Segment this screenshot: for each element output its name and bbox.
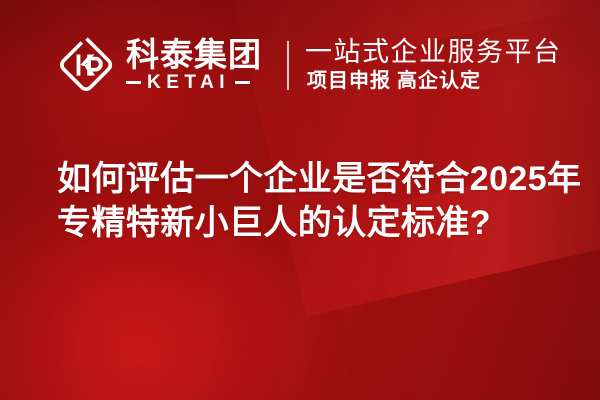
headline-line-2: 专精特新小巨人的认定标准? [57, 201, 577, 245]
banner-header: 科泰集团 KETAI 一站式企业服务平台 项目申报 高企认定 [0, 0, 600, 130]
promo-banner: 科泰集团 KETAI 一站式企业服务平台 项目申报 高企认定 如何评估一个企业是… [0, 0, 600, 400]
headline-block: 如何评估一个企业是否符合2025年 专精特新小巨人的认定标准? [57, 157, 577, 245]
header-divider [287, 41, 289, 90]
kt-diamond-logo-icon [56, 35, 116, 95]
company-name-en-row: KETAI [126, 73, 262, 92]
company-name-en: KETAI [147, 73, 230, 92]
logo-wordmark: 科泰集团 KETAI [126, 38, 262, 93]
tagline-block: 一站式企业服务平台 项目申报 高企认定 [305, 38, 562, 92]
tagline-sub: 项目申报 高企认定 [307, 70, 562, 92]
headline-line-1: 如何评估一个企业是否符合2025年 [57, 157, 577, 201]
wordmark-rule-left [126, 81, 141, 84]
tagline-main: 一站式企业服务平台 [305, 38, 562, 67]
wordmark-rule-right [235, 81, 250, 84]
company-name-cn: 科泰集团 [126, 38, 262, 72]
brand-lockup: 科泰集团 KETAI 一站式企业服务平台 项目申报 高企认定 [56, 35, 562, 95]
